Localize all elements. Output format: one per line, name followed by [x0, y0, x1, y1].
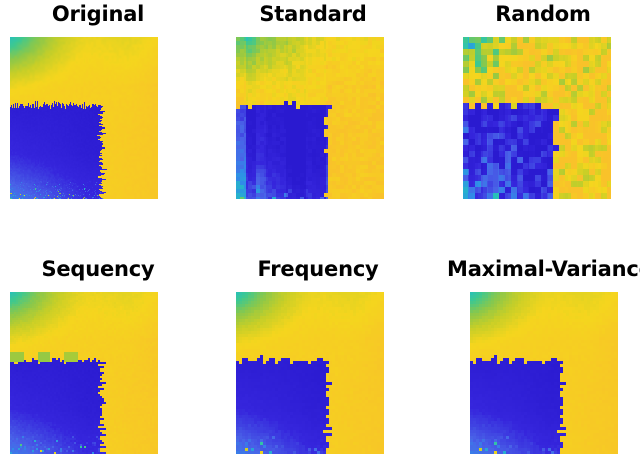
panel-maximal-variance: Maximal-Variance: [0, 0, 640, 456]
panel-random: Random: [0, 0, 640, 456]
panel-title-random: Random: [483, 4, 603, 25]
panel-title-sequency: Sequency: [34, 259, 162, 280]
heatmap-image-maximal-variance: [470, 292, 618, 454]
heatmap-image-frequency: [236, 292, 384, 454]
figure-grid: OriginalStandardRandomSequencyFrequencyM…: [0, 0, 640, 456]
heatmap-image-original: [10, 37, 158, 199]
panel-title-standard: Standard: [253, 4, 373, 25]
panel-frequency: Frequency: [0, 0, 640, 456]
panel-sequency: Sequency: [0, 0, 640, 456]
panel-title-maximal-variance: Maximal-Variance: [447, 259, 640, 280]
panel-standard: Standard: [0, 0, 640, 456]
heatmap-image-sequency: [10, 292, 158, 454]
heatmap-image-standard: [236, 37, 384, 199]
panel-original: Original: [0, 0, 640, 456]
panel-title-frequency: Frequency: [254, 259, 382, 280]
panel-title-original: Original: [38, 4, 158, 25]
heatmap-image-random: [463, 37, 611, 199]
